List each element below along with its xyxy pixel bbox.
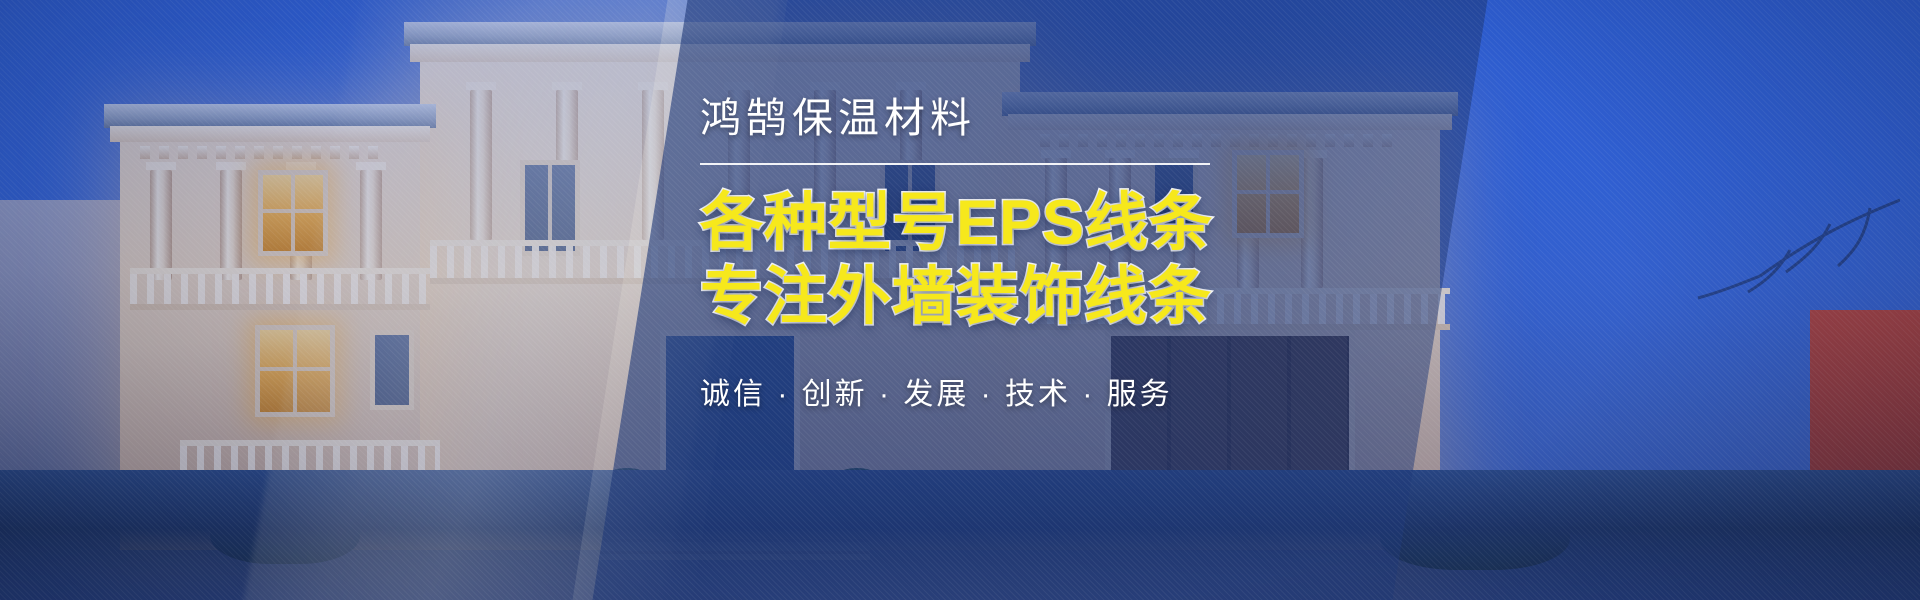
headline-group: 各种型号EPS线条 专注外墙装饰线条 — [700, 187, 1260, 334]
window-left-lower — [255, 325, 335, 417]
brand-divider — [700, 163, 1210, 165]
villa-left-cornice — [110, 126, 430, 142]
ground-plane — [0, 470, 1920, 600]
villa-center-cornice — [410, 44, 1030, 62]
headline-line-1: 各种型号EPS线条 — [700, 187, 1260, 261]
tree-branch-icon — [1580, 180, 1900, 360]
headline-line-2: 专注外墙装饰线条 — [700, 261, 1260, 335]
dentil-row-left — [140, 146, 378, 159]
balustrade-left — [130, 268, 430, 310]
promo-banner: 鸿鹄保温材料 各种型号EPS线条 专注外墙装饰线条 诚信 · 创新 · 发展 ·… — [0, 0, 1920, 600]
slogan-text: 诚信 · 创新 · 发展 · 技术 · 服务 — [700, 369, 1260, 413]
villa-center-roof — [404, 22, 1036, 46]
window-left-side — [370, 330, 414, 410]
villa-left-roof — [104, 104, 436, 128]
company-brand-name: 鸿鹄保温材料 — [700, 96, 1260, 141]
window-left-upper — [258, 170, 328, 256]
